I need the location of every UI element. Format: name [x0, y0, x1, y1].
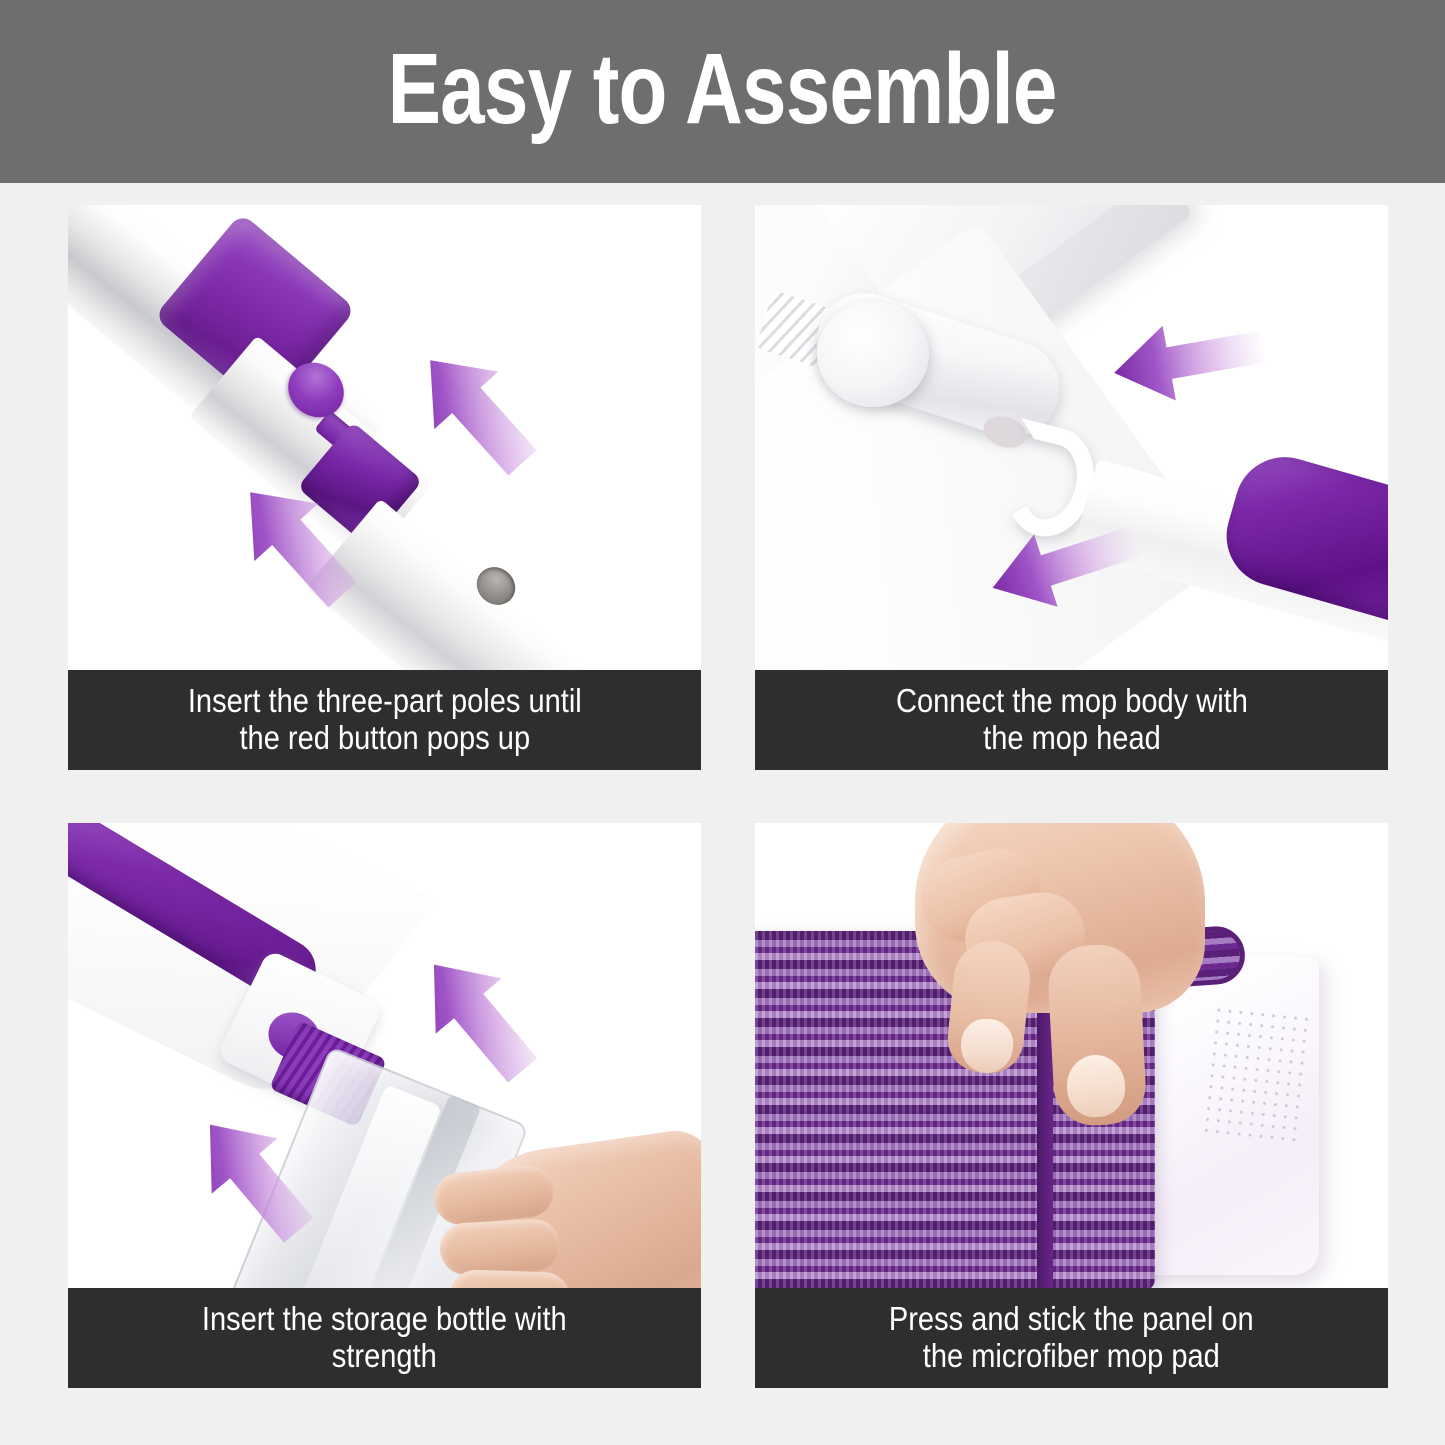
step-caption-bar-2: Connect the mop body with the mop head [755, 670, 1388, 770]
panel-grip-dots [1200, 1004, 1313, 1144]
step-caption-1: Insert the three-part poles until the re… [170, 683, 599, 757]
header-band: Easy to Assemble [0, 0, 1445, 183]
steps-grid: Insert the three-part poles until the re… [0, 183, 1445, 1445]
step-photo-2 [755, 205, 1388, 670]
page-title: Easy to Assemble [388, 39, 1057, 139]
step-panel-4[interactable]: Press and stick the panel on the microfi… [755, 823, 1388, 1388]
direction-arrow-icon [220, 467, 370, 617]
step-panel-3[interactable]: Insert the storage bottle with strength [68, 823, 701, 1388]
direction-arrow-icon [1107, 300, 1267, 420]
connector-pivot-knob [817, 301, 929, 407]
step-caption-4: Press and stick the panel on the microfi… [871, 1301, 1271, 1375]
step-caption-bar-1: Insert the three-part poles until the re… [68, 670, 701, 770]
step-photo-4 [755, 823, 1388, 1288]
step-photo-3 [68, 823, 701, 1288]
direction-arrow-icon [178, 1101, 328, 1251]
step-caption-3: Insert the storage bottle with strength [184, 1301, 584, 1375]
direction-arrow-icon [402, 941, 552, 1091]
step-panel-2[interactable]: Connect the mop body with the mop head [755, 205, 1388, 770]
step-caption-bar-4: Press and stick the panel on the microfi… [755, 1288, 1388, 1388]
direction-arrow-icon [400, 335, 550, 485]
step-photo-1 [68, 205, 701, 670]
step-caption-bar-3: Insert the storage bottle with strength [68, 1288, 701, 1388]
direction-arrow-icon [983, 505, 1143, 625]
step-panel-1[interactable]: Insert the three-part poles until the re… [68, 205, 701, 770]
step-caption-2: Connect the mop body with the mop head [878, 683, 1265, 757]
finger [439, 1218, 562, 1276]
